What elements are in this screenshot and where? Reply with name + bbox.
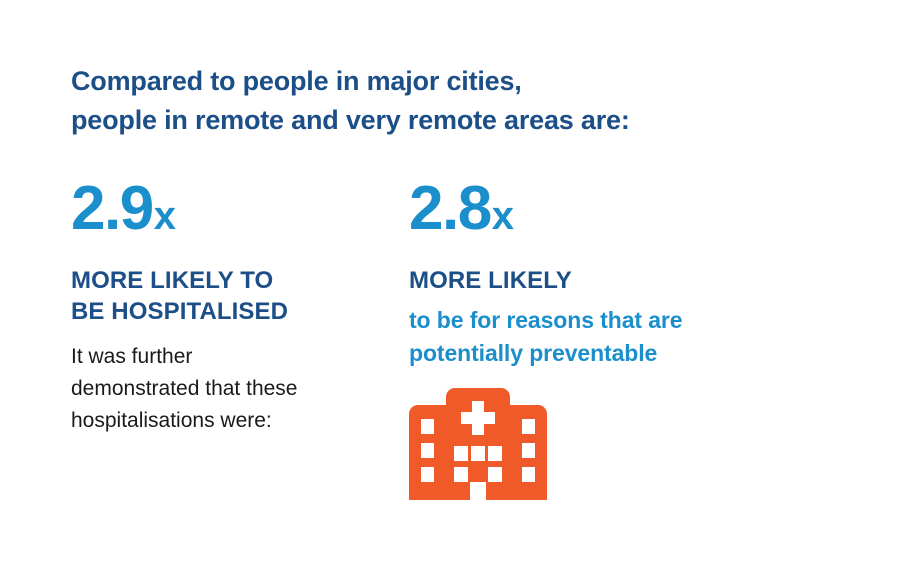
hospital-icon xyxy=(409,388,547,500)
statistic-emphasis-line-1: MORE LIKELY TO xyxy=(71,265,288,296)
statistic-figure: 2.8x xyxy=(409,178,513,247)
statistic-emphasis: MORE LIKELY xyxy=(409,265,572,296)
statistic-figure-value: 2.8 xyxy=(409,178,491,240)
statistic-subtext-line-1: to be for reasons that are xyxy=(409,304,682,337)
statistic-figure-value: 2.9 xyxy=(71,178,153,240)
statistic-preventable: 2.8x MORE LIKELY to be for reasons that … xyxy=(409,178,749,370)
statistic-hospitalised: 2.9x MORE LIKELY TO BE HOSPITALISED It w… xyxy=(71,178,409,437)
page-title-line-2: people in remote and very remote areas a… xyxy=(71,101,630,140)
statistic-emphasis-line-2: BE HOSPITALISED xyxy=(71,296,288,327)
statistic-emphasis: MORE LIKELY TO BE HOSPITALISED xyxy=(71,265,288,327)
page-title: Compared to people in major cities, peop… xyxy=(71,62,630,140)
statistic-subtext-line-2: potentially preventable xyxy=(409,337,682,370)
page-title-line-1: Compared to people in major cities, xyxy=(71,62,630,101)
statistic-note-line-3: hospitalisations were: xyxy=(71,405,297,437)
statistic-figure-suffix: x xyxy=(492,185,514,247)
hospital-icon-container xyxy=(409,388,547,500)
infographic-canvas: Compared to people in major cities, peop… xyxy=(0,0,900,570)
statistic-note-line-2: demonstrated that these xyxy=(71,373,297,405)
statistic-subtext: to be for reasons that are potentially p… xyxy=(409,304,682,370)
statistic-note-line-1: It was further xyxy=(71,341,297,373)
statistic-figure: 2.9x xyxy=(71,178,175,247)
statistic-note: It was further demonstrated that these h… xyxy=(71,341,297,437)
statistic-emphasis-line-1: MORE LIKELY xyxy=(409,265,572,296)
statistic-figure-suffix: x xyxy=(154,185,176,247)
